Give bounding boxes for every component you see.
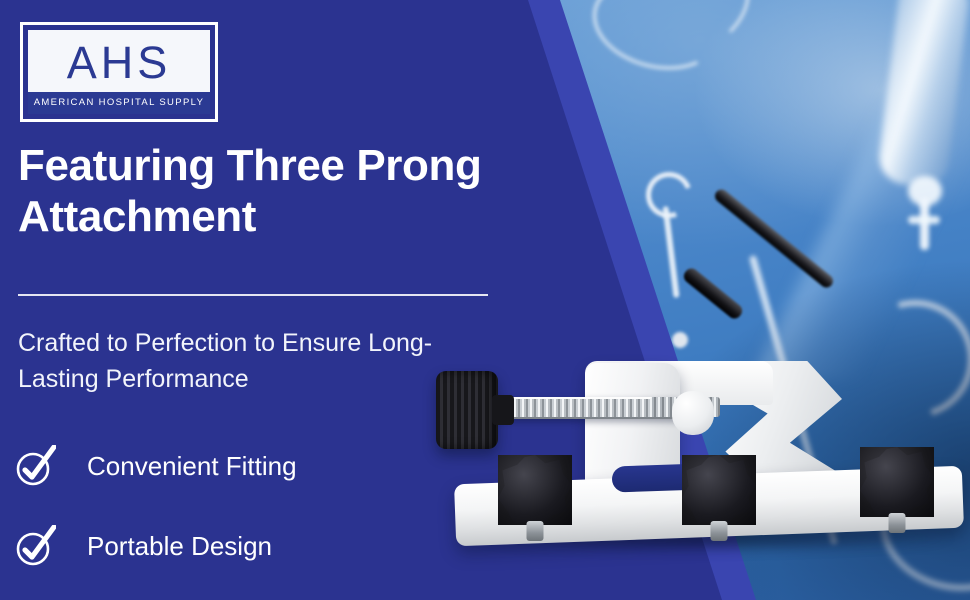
feature-list: Convenient Fitting Portable Design bbox=[16, 444, 456, 600]
star-knob-lobes bbox=[860, 447, 934, 517]
star-knob-lobes bbox=[682, 455, 756, 525]
feature-label: Convenient Fitting bbox=[87, 453, 297, 479]
star-knob-post bbox=[527, 521, 544, 541]
star-knob-lobes bbox=[498, 455, 572, 525]
check-circle-icon bbox=[16, 525, 56, 567]
screw-rod-white-tip bbox=[672, 391, 714, 435]
brand-logo-inner: AHS AMERICAN HOSPITAL SUPPLY bbox=[28, 30, 210, 114]
clamp-adjust-knob bbox=[436, 371, 498, 449]
star-knob-post bbox=[889, 513, 906, 533]
product-image bbox=[400, 355, 970, 600]
star-knob-post bbox=[711, 521, 728, 541]
list-item: Convenient Fitting bbox=[16, 444, 456, 488]
list-item: Portable Design bbox=[16, 524, 456, 568]
promo-banner: AHS AMERICAN HOSPITAL SUPPLY Featuring T… bbox=[0, 0, 970, 600]
page-title: Featuring Three Prong Attachment bbox=[18, 140, 518, 243]
brand-logo-mark: AHS bbox=[28, 30, 210, 92]
feature-label: Portable Design bbox=[87, 533, 272, 559]
star-knob-3 bbox=[860, 447, 934, 517]
star-knob-2 bbox=[682, 455, 756, 525]
title-divider bbox=[18, 294, 488, 296]
check-circle-icon bbox=[16, 445, 56, 487]
brand-logo: AHS AMERICAN HOSPITAL SUPPLY bbox=[20, 22, 218, 122]
star-knob-1 bbox=[498, 455, 572, 525]
brand-logo-subtitle: AMERICAN HOSPITAL SUPPLY bbox=[28, 92, 210, 114]
